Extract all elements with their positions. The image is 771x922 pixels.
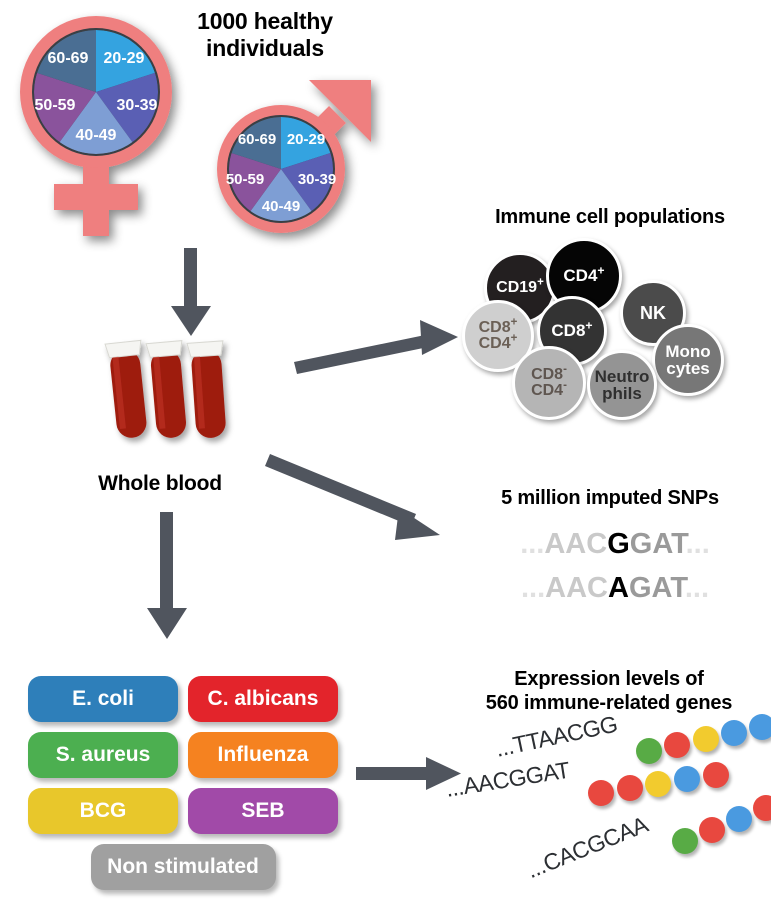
section-title-immune-cells: Immune cell populations <box>455 206 765 230</box>
immune-cell-label: Mono <box>665 343 710 360</box>
stimulation-box-influenza[interactable]: Influenza <box>188 732 338 778</box>
stimulation-label: S. aureus <box>56 743 151 767</box>
expression-sequence-text: ...CACGCAA <box>523 811 652 884</box>
stimulation-box-seb[interactable]: SEB <box>188 788 338 834</box>
pie-label-20-29: 20-29 <box>104 50 145 67</box>
gene-expression-strands: ...TTAACGG...AACGGAT...CACGCAA <box>440 718 771 918</box>
label-whole-blood: Whole blood <box>60 472 260 497</box>
figure-canvas: 20-29 30-39 40-49 50-59 60-69 <box>0 0 771 922</box>
snp-variant-base: G <box>607 528 630 560</box>
stimulation-box-c-albicans[interactable]: C. albicans <box>188 676 338 722</box>
expression-bead <box>588 780 614 806</box>
stimulation-label: E. coli <box>72 687 134 711</box>
snp-flank-left: AAC <box>544 528 607 560</box>
immune-cell-cluster: CD19+CD4+NKCD8+CD4+CD8+MonocytesCD8-CD4-… <box>462 238 762 423</box>
immune-cell-label: cytes <box>665 360 710 377</box>
stimulation-box-bcg[interactable]: BCG <box>28 788 178 834</box>
stimulation-row: S. aureusInfluenza <box>28 732 338 778</box>
immune-cell-neutrophils: Neutrophils <box>587 350 657 420</box>
expression-sequence-text: ...AACGGAT <box>444 757 572 803</box>
pie-label-60-69-m: 60-69 <box>238 131 276 148</box>
snp-variant-base: A <box>608 572 629 604</box>
pie-label-20-29-m: 20-29 <box>287 131 325 148</box>
section-title-expression: Expression levels of 560 immune-related … <box>450 668 768 715</box>
expression-bead <box>753 795 771 821</box>
expression-bead <box>703 762 729 788</box>
expression-bead <box>674 766 700 792</box>
immune-cell-label: CD4+ <box>479 336 518 352</box>
expression-bead <box>699 817 725 843</box>
arrow-cohort-to-blood <box>168 248 214 338</box>
stimulation-label: BCG <box>80 799 127 823</box>
pie-label-50-59-m: 50-59 <box>226 171 264 188</box>
expression-bead <box>693 726 719 752</box>
stimulation-row: BCGSEB <box>28 788 338 834</box>
immune-cell-label: phils <box>595 385 650 402</box>
pie-label-30-39-m: 30-39 <box>298 171 336 188</box>
stimulation-label: Influenza <box>217 743 308 767</box>
snp-flank-right: GAT <box>629 572 685 604</box>
snp-sequence-row: ...AACGGAT... <box>470 528 760 561</box>
stimulation-box-non-stimulated[interactable]: Non stimulated <box>91 844 276 890</box>
expression-bead <box>726 806 752 832</box>
expression-bead <box>645 771 671 797</box>
snp-ellipsis-left: ... <box>520 528 544 560</box>
stimulation-conditions-grid: E. coliC. albicans S. aureusInfluenza BC… <box>28 676 338 900</box>
arrow-blood-to-stimulations <box>144 512 190 642</box>
snp-sequences: ...AACGGAT... ...AACAGAT... <box>470 528 760 618</box>
blood-tubes-icon <box>98 330 248 475</box>
expression-bead <box>721 720 747 746</box>
male-symbol: 20-29 30-39 40-49 50-59 60-69 <box>205 78 405 253</box>
immune-cell-label: NK <box>640 304 666 322</box>
expression-bead <box>664 732 690 758</box>
snp-flank-left: AAC <box>545 572 608 604</box>
expression-bead <box>672 828 698 854</box>
expression-sequence-text: ...TTAACGG <box>493 711 620 763</box>
snp-flank-right: GAT <box>630 528 686 560</box>
arrow-blood-to-snps <box>268 440 458 550</box>
section-title-snps: 5 million imputed SNPs <box>455 487 765 511</box>
immune-cell-label: CD19+ <box>496 280 544 296</box>
arrow-blood-to-immune <box>292 312 462 374</box>
snp-ellipsis-right: ... <box>685 572 709 604</box>
pie-label-50-59: 50-59 <box>35 97 76 114</box>
stimulation-label: C. albicans <box>208 687 319 711</box>
expression-bead <box>636 738 662 764</box>
stimulation-box-s-aureus[interactable]: S. aureus <box>28 732 178 778</box>
pie-label-40-49: 40-49 <box>76 127 117 144</box>
immune-cell-label: CD4- <box>531 383 567 399</box>
pie-label-30-39: 30-39 <box>117 97 158 114</box>
pie-label-40-49-m: 40-49 <box>262 198 300 215</box>
stimulation-label: Non stimulated <box>107 855 259 879</box>
pie-label-60-69: 60-69 <box>48 50 89 67</box>
immune-cell-label: CD8- <box>531 367 567 383</box>
expression-bead <box>749 714 771 740</box>
snp-sequence-row: ...AACAGAT... <box>470 572 760 605</box>
expression-bead <box>617 775 643 801</box>
snp-ellipsis-right: ... <box>686 528 710 560</box>
stimulation-box-e-coli[interactable]: E. coli <box>28 676 178 722</box>
immune-cell-label: CD4+ <box>563 267 604 284</box>
page-title-individuals: 1000 healthy individuals <box>160 8 370 62</box>
immune-cell-label: Neutro <box>595 368 650 385</box>
immune-cell-label: CD8+ <box>551 322 592 339</box>
snp-ellipsis-left: ... <box>521 572 545 604</box>
stimulation-row-non-stimulated: Non stimulated <box>28 844 338 890</box>
stimulation-label: SEB <box>241 799 284 823</box>
immune-cell-monocytes: Monocytes <box>652 324 724 396</box>
immune-cell-cd8-cd4: CD8-CD4- <box>512 346 586 420</box>
stimulation-row: E. coliC. albicans <box>28 676 338 722</box>
